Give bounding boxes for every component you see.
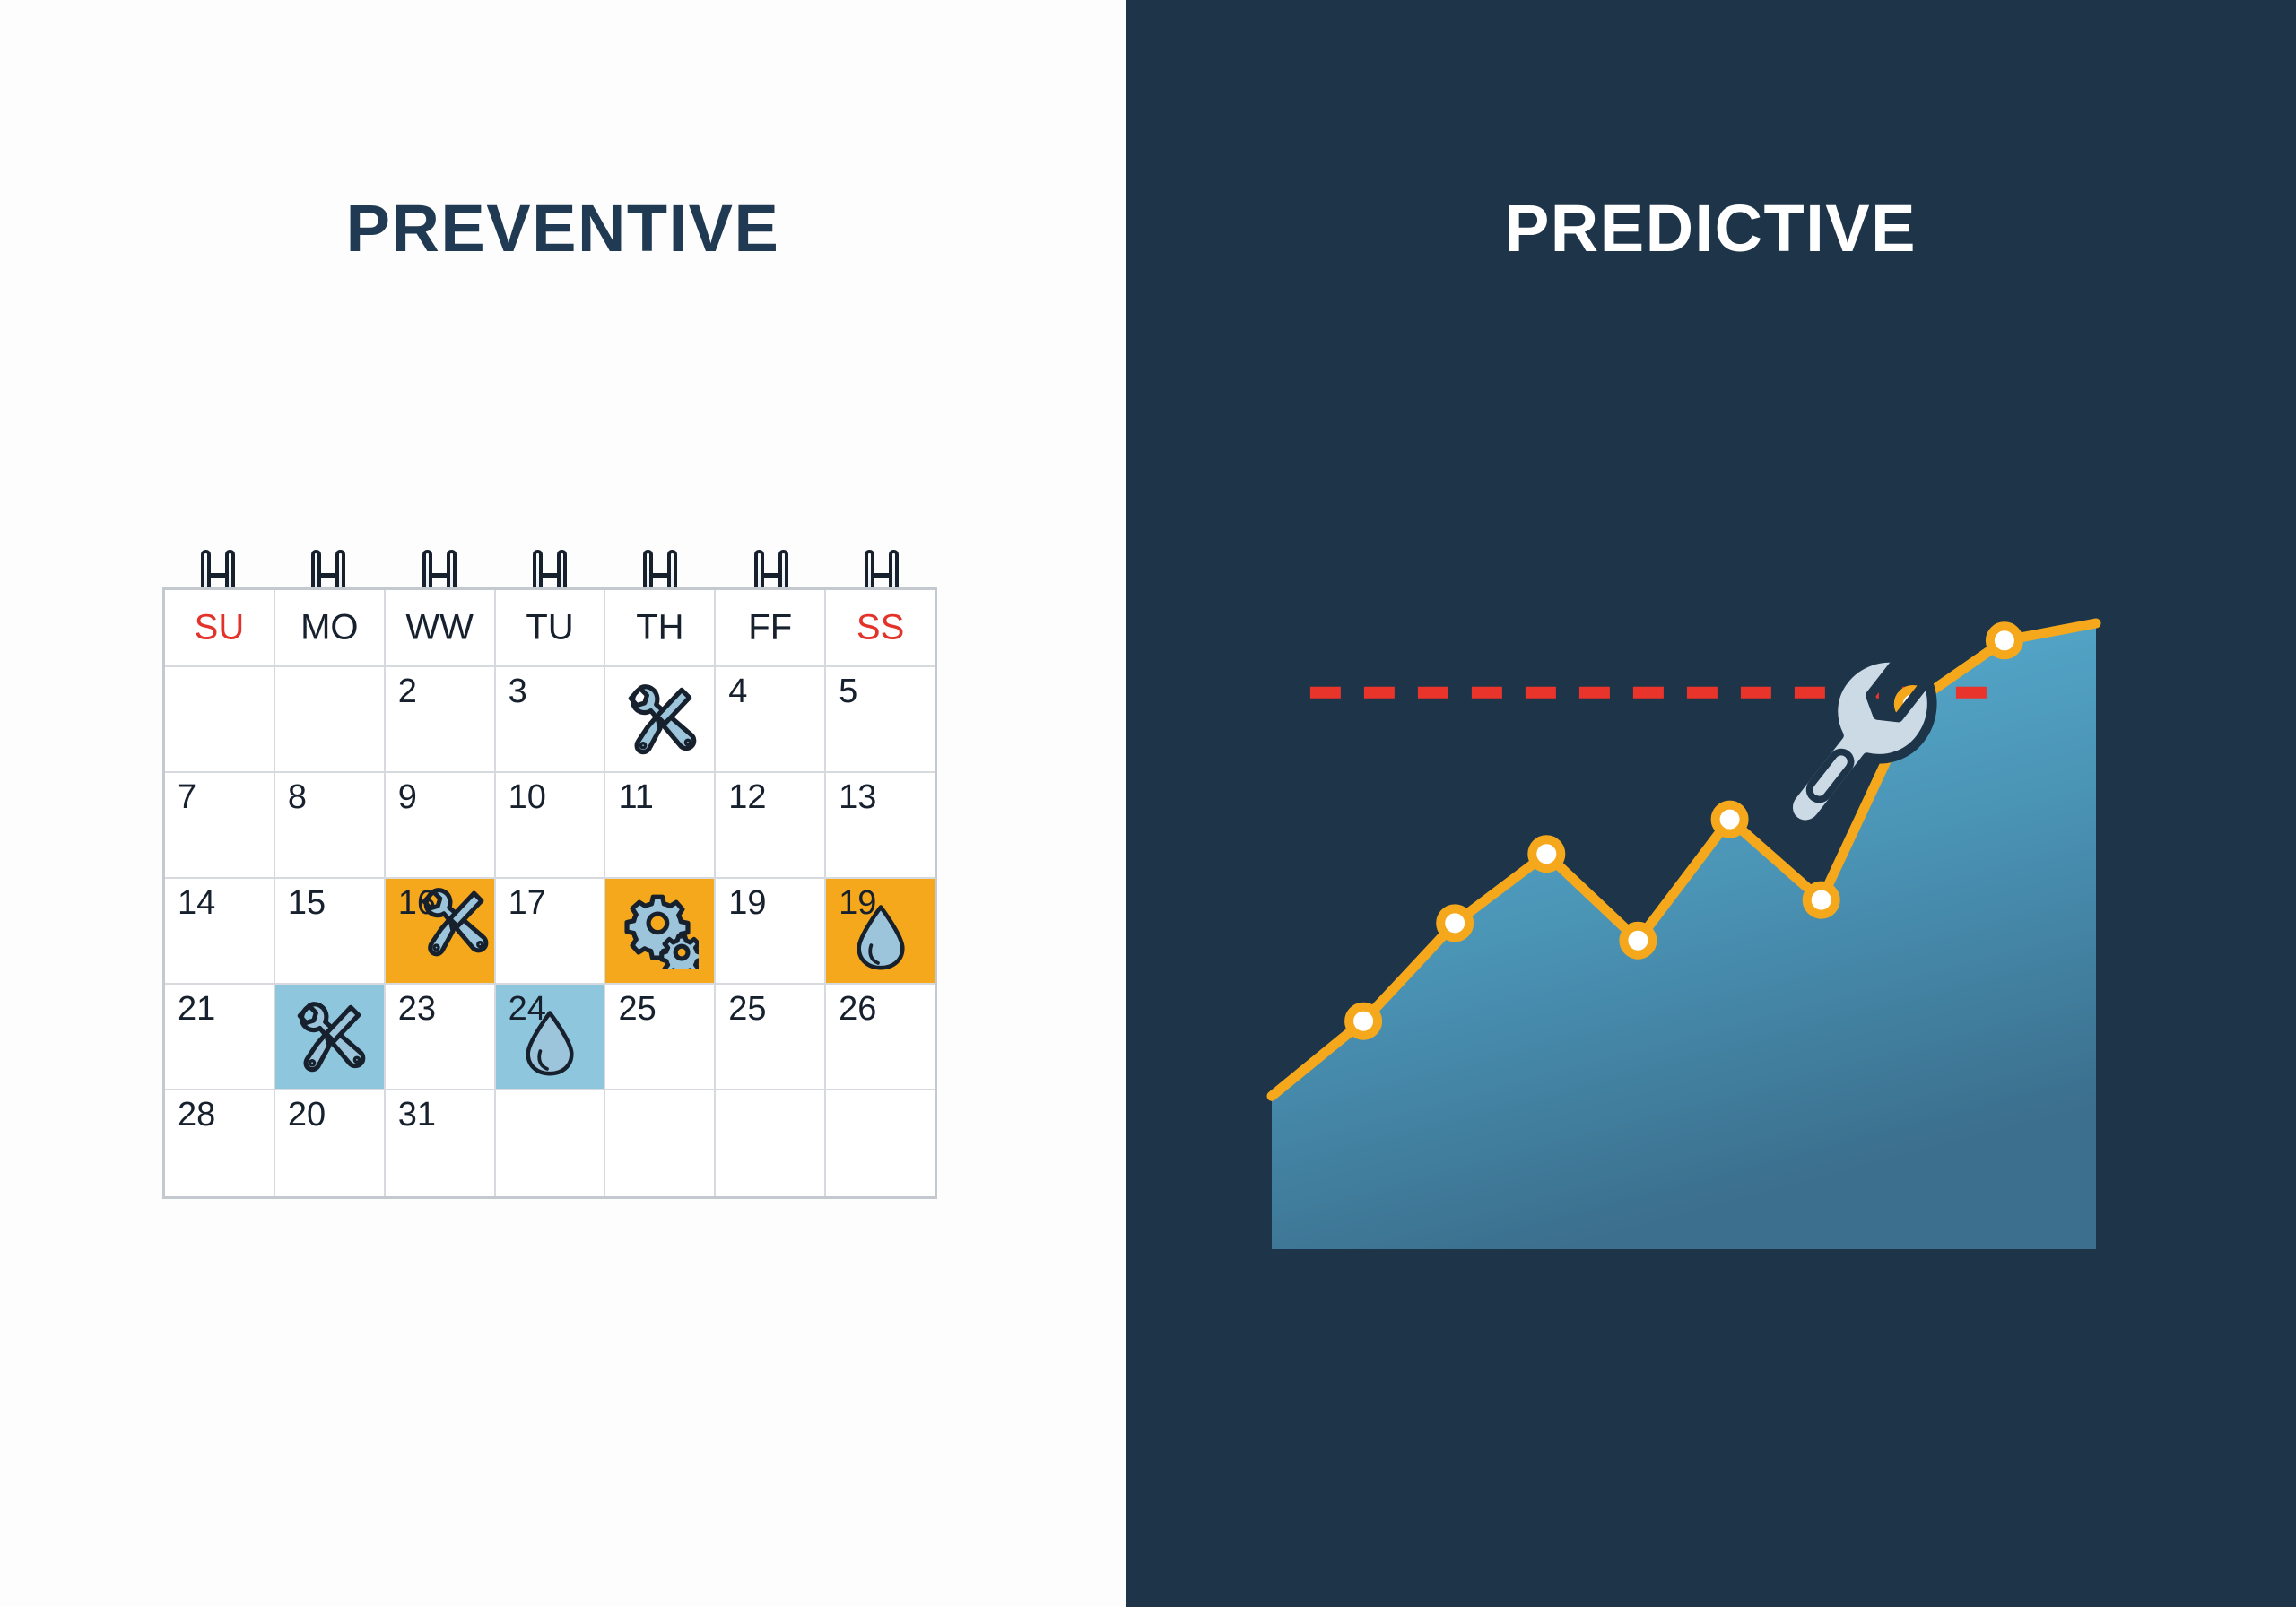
calendar-day-cell[interactable]: 9	[386, 773, 496, 879]
chart-data-point	[1349, 1007, 1378, 1036]
calendar-header-row: SUMOWWTUTHFFSS	[165, 590, 935, 667]
calendar-day-cell[interactable]	[496, 1090, 606, 1196]
day-number: 8	[288, 780, 307, 816]
day-number: 11	[618, 780, 653, 816]
day-of-week-label: TH	[605, 608, 714, 648]
calendar-header-cell: WW	[386, 590, 496, 667]
calendar-day-cell[interactable]: 17	[496, 879, 606, 985]
preventive-panel: PREVENTIVE SUMOWWTUTHFFSS234578910111213…	[0, 0, 1126, 1607]
calendar-week-row: 2345	[165, 667, 935, 773]
chart-data-point	[1807, 886, 1836, 915]
chart-data-point	[1716, 805, 1744, 834]
calendar-header-cell: SU	[165, 590, 275, 667]
calendar-day-cell[interactable]: 28	[165, 1090, 275, 1196]
day-of-week-label: SS	[826, 608, 935, 648]
calendar-day-cell[interactable]: 15	[275, 879, 386, 985]
day-number: 23	[398, 992, 436, 1028]
calendar-day-cell[interactable]: 7	[165, 773, 275, 879]
calendar-grid[interactable]: SUMOWWTUTHFFSS23457891011121314151617191…	[162, 587, 937, 1199]
chart-svg	[1272, 574, 2096, 1249]
day-number: 7	[178, 780, 196, 816]
calendar-week-row: 141516171919	[165, 879, 935, 985]
day-of-week-label: MO	[275, 608, 384, 648]
calendar-day-cell[interactable]	[605, 879, 716, 985]
day-number: 25	[618, 992, 656, 1028]
droplet-icon	[847, 903, 915, 971]
day-number: 31	[398, 1098, 436, 1134]
day-number: 21	[178, 992, 215, 1028]
gears-icon	[622, 892, 699, 969]
day-number: 28	[178, 1098, 215, 1134]
calendar-day-cell[interactable]: 4	[716, 667, 826, 773]
calendar-header-cell: MO	[275, 590, 386, 667]
day-number: 2	[398, 674, 417, 710]
calendar-day-cell[interactable]	[165, 667, 275, 773]
day-of-week-label: TU	[496, 608, 604, 648]
calendar-day-cell[interactable]: 8	[275, 773, 386, 879]
calendar-day-cell[interactable]	[275, 985, 386, 1090]
wrench-screwdriver-icon	[291, 998, 368, 1075]
calendar-header-cell: FF	[716, 590, 826, 667]
wrench-screwdriver-icon	[415, 884, 491, 960]
calendar-day-cell[interactable]: 16	[386, 879, 496, 985]
day-number: 14	[178, 886, 215, 922]
day-of-week-label: WW	[386, 608, 494, 648]
calendar-week-row: 282031	[165, 1090, 935, 1196]
calendar-day-cell[interactable]: 31	[386, 1090, 496, 1196]
day-number: 4	[728, 674, 747, 710]
calendar-day-cell[interactable]: 2	[386, 667, 496, 773]
calendar-week-row: 78910111213	[165, 773, 935, 879]
day-number: 5	[839, 674, 857, 710]
calendar-day-cell[interactable]: 25	[605, 985, 716, 1090]
day-number: 20	[288, 1098, 326, 1134]
day-number: 15	[288, 886, 326, 922]
calendar-day-cell[interactable]: 11	[605, 773, 716, 879]
day-number: 26	[839, 992, 876, 1028]
chart-data-point	[1623, 926, 1652, 955]
predictive-panel: PREDICTIVE	[1126, 0, 2296, 1607]
chart-data-point	[1899, 690, 1927, 718]
calendar-day-cell[interactable]: 13	[826, 773, 935, 879]
calendar-day-cell[interactable]: 20	[275, 1090, 386, 1196]
calendar-day-cell[interactable]	[716, 1090, 826, 1196]
calendar-day-cell[interactable]: 19	[826, 879, 935, 985]
calendar-day-cell[interactable]: 14	[165, 879, 275, 985]
calendar-day-cell[interactable]	[826, 1090, 935, 1196]
calendar-day-cell[interactable]: 25	[716, 985, 826, 1090]
day-number: 13	[839, 780, 876, 816]
calendar-day-cell[interactable]: 21	[165, 985, 275, 1090]
day-of-week-label: FF	[716, 608, 824, 648]
day-number: 25	[728, 992, 766, 1028]
day-of-week-label: SU	[165, 608, 274, 648]
chart-data-point	[1990, 626, 2019, 655]
wrench-screwdriver-icon	[622, 681, 699, 758]
calendar-header-cell: TH	[605, 590, 716, 667]
calendar-day-cell[interactable]	[605, 667, 716, 773]
calendar-day-cell[interactable]: 3	[496, 667, 606, 773]
calendar-day-cell[interactable]: 12	[716, 773, 826, 879]
calendar-day-cell[interactable]: 26	[826, 985, 935, 1090]
calendar-day-cell[interactable]: 19	[716, 879, 826, 985]
day-number: 9	[398, 780, 417, 816]
day-number: 19	[728, 886, 766, 922]
calendar-header-cell: TU	[496, 590, 606, 667]
droplet-icon	[516, 1009, 584, 1077]
day-number: 17	[509, 886, 546, 922]
predictive-chart	[1272, 574, 2096, 1249]
chart-data-point	[1532, 839, 1561, 868]
chart-data-point	[1440, 908, 1469, 937]
calendar-header-cell: SS	[826, 590, 935, 667]
day-number: 3	[509, 674, 527, 710]
predictive-title: PREDICTIVE	[1126, 195, 2296, 262]
calendar-day-cell[interactable]: 23	[386, 985, 496, 1090]
day-number: 12	[728, 780, 766, 816]
comparison-layout: PREVENTIVE SUMOWWTUTHFFSS234578910111213…	[0, 0, 2296, 1607]
calendar-day-cell[interactable]: 10	[496, 773, 606, 879]
chart-area-fill	[1272, 623, 2096, 1249]
preventive-title: PREVENTIVE	[0, 195, 1126, 262]
calendar-day-cell[interactable]	[605, 1090, 716, 1196]
calendar-day-cell[interactable]: 5	[826, 667, 935, 773]
calendar-day-cell[interactable]: 24	[496, 985, 606, 1090]
calendar-day-cell[interactable]	[275, 667, 386, 773]
day-number: 10	[509, 780, 546, 816]
calendar-week-row: 212324252526	[165, 985, 935, 1090]
